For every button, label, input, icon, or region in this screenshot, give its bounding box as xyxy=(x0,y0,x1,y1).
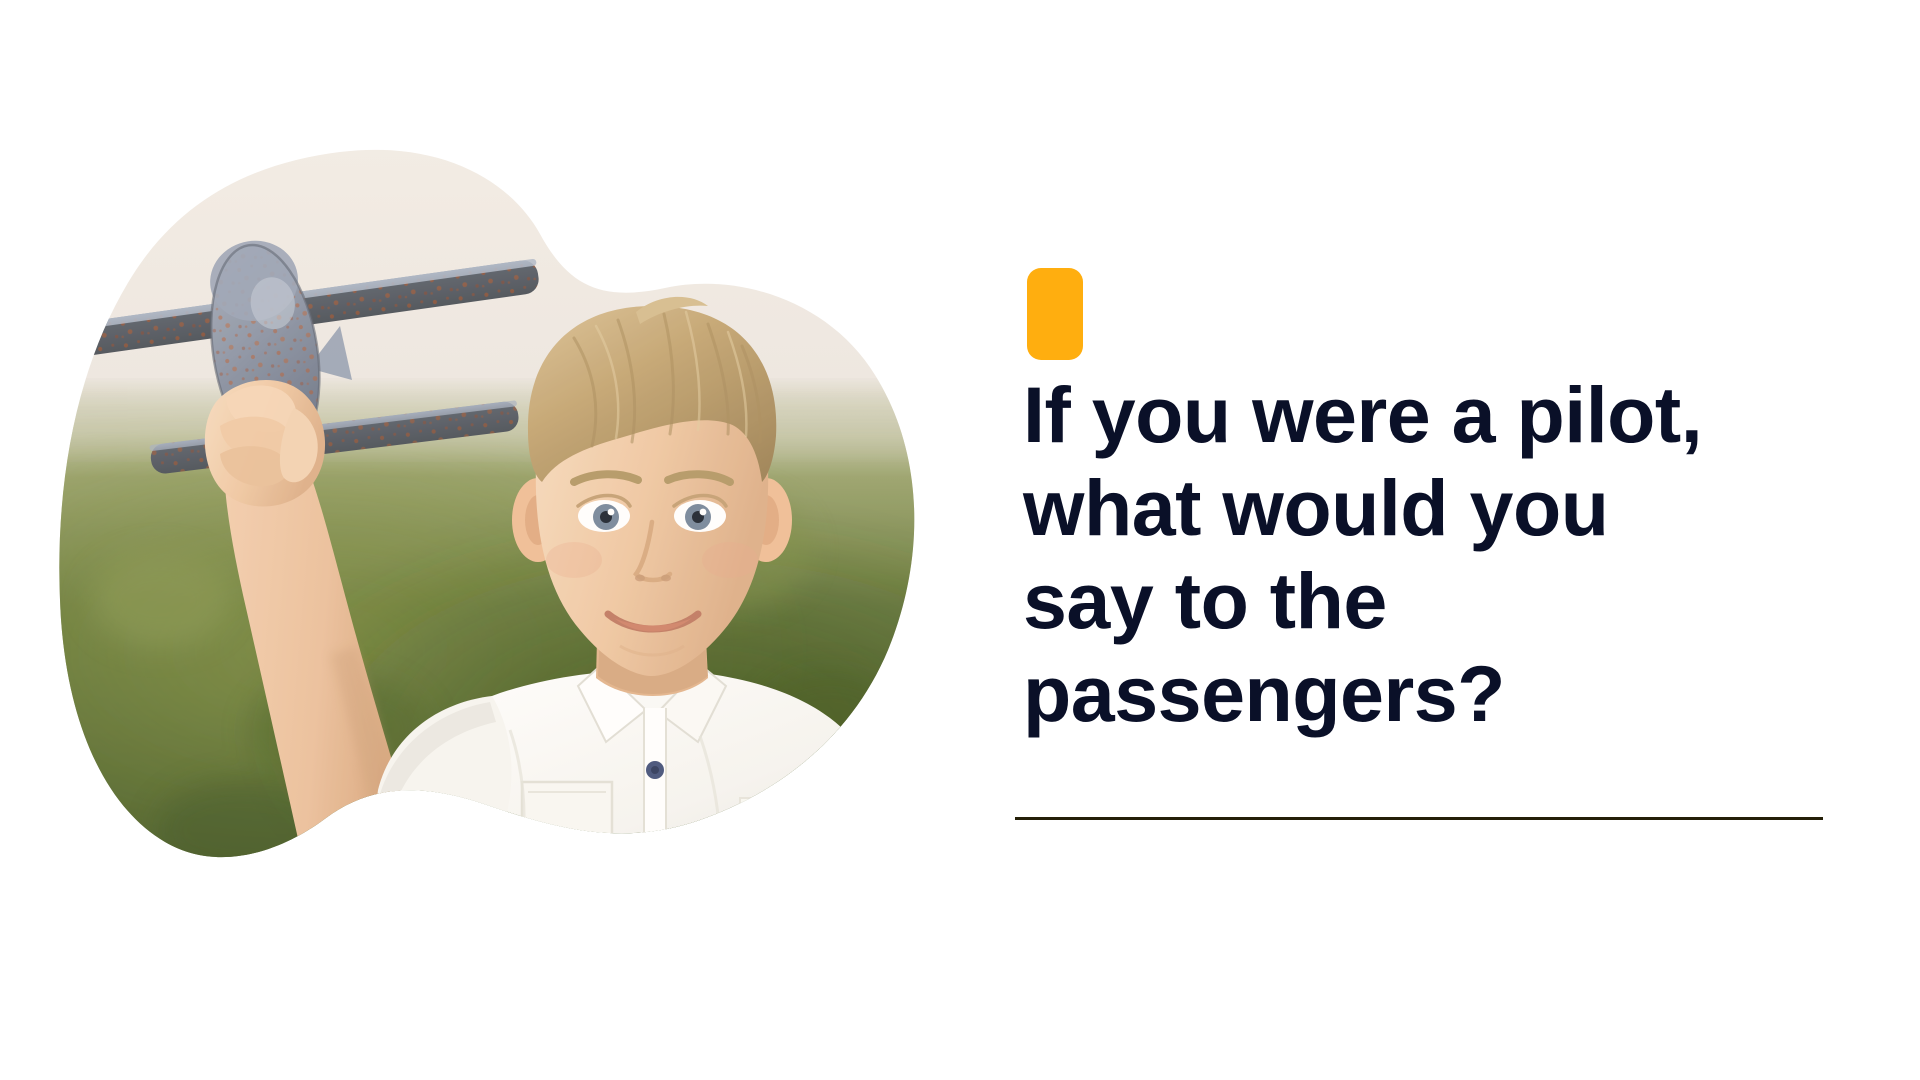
boy-with-toy-airplane-photo xyxy=(40,130,940,920)
media-panel xyxy=(40,130,940,920)
divider xyxy=(1015,817,1823,820)
page-title: If you were a pilot, what would you say … xyxy=(1023,368,1873,740)
slide-canvas: If you were a pilot, what would you say … xyxy=(0,0,1920,1080)
accent-bar xyxy=(1027,268,1083,360)
content-panel: If you were a pilot, what would you say … xyxy=(1015,250,1875,850)
